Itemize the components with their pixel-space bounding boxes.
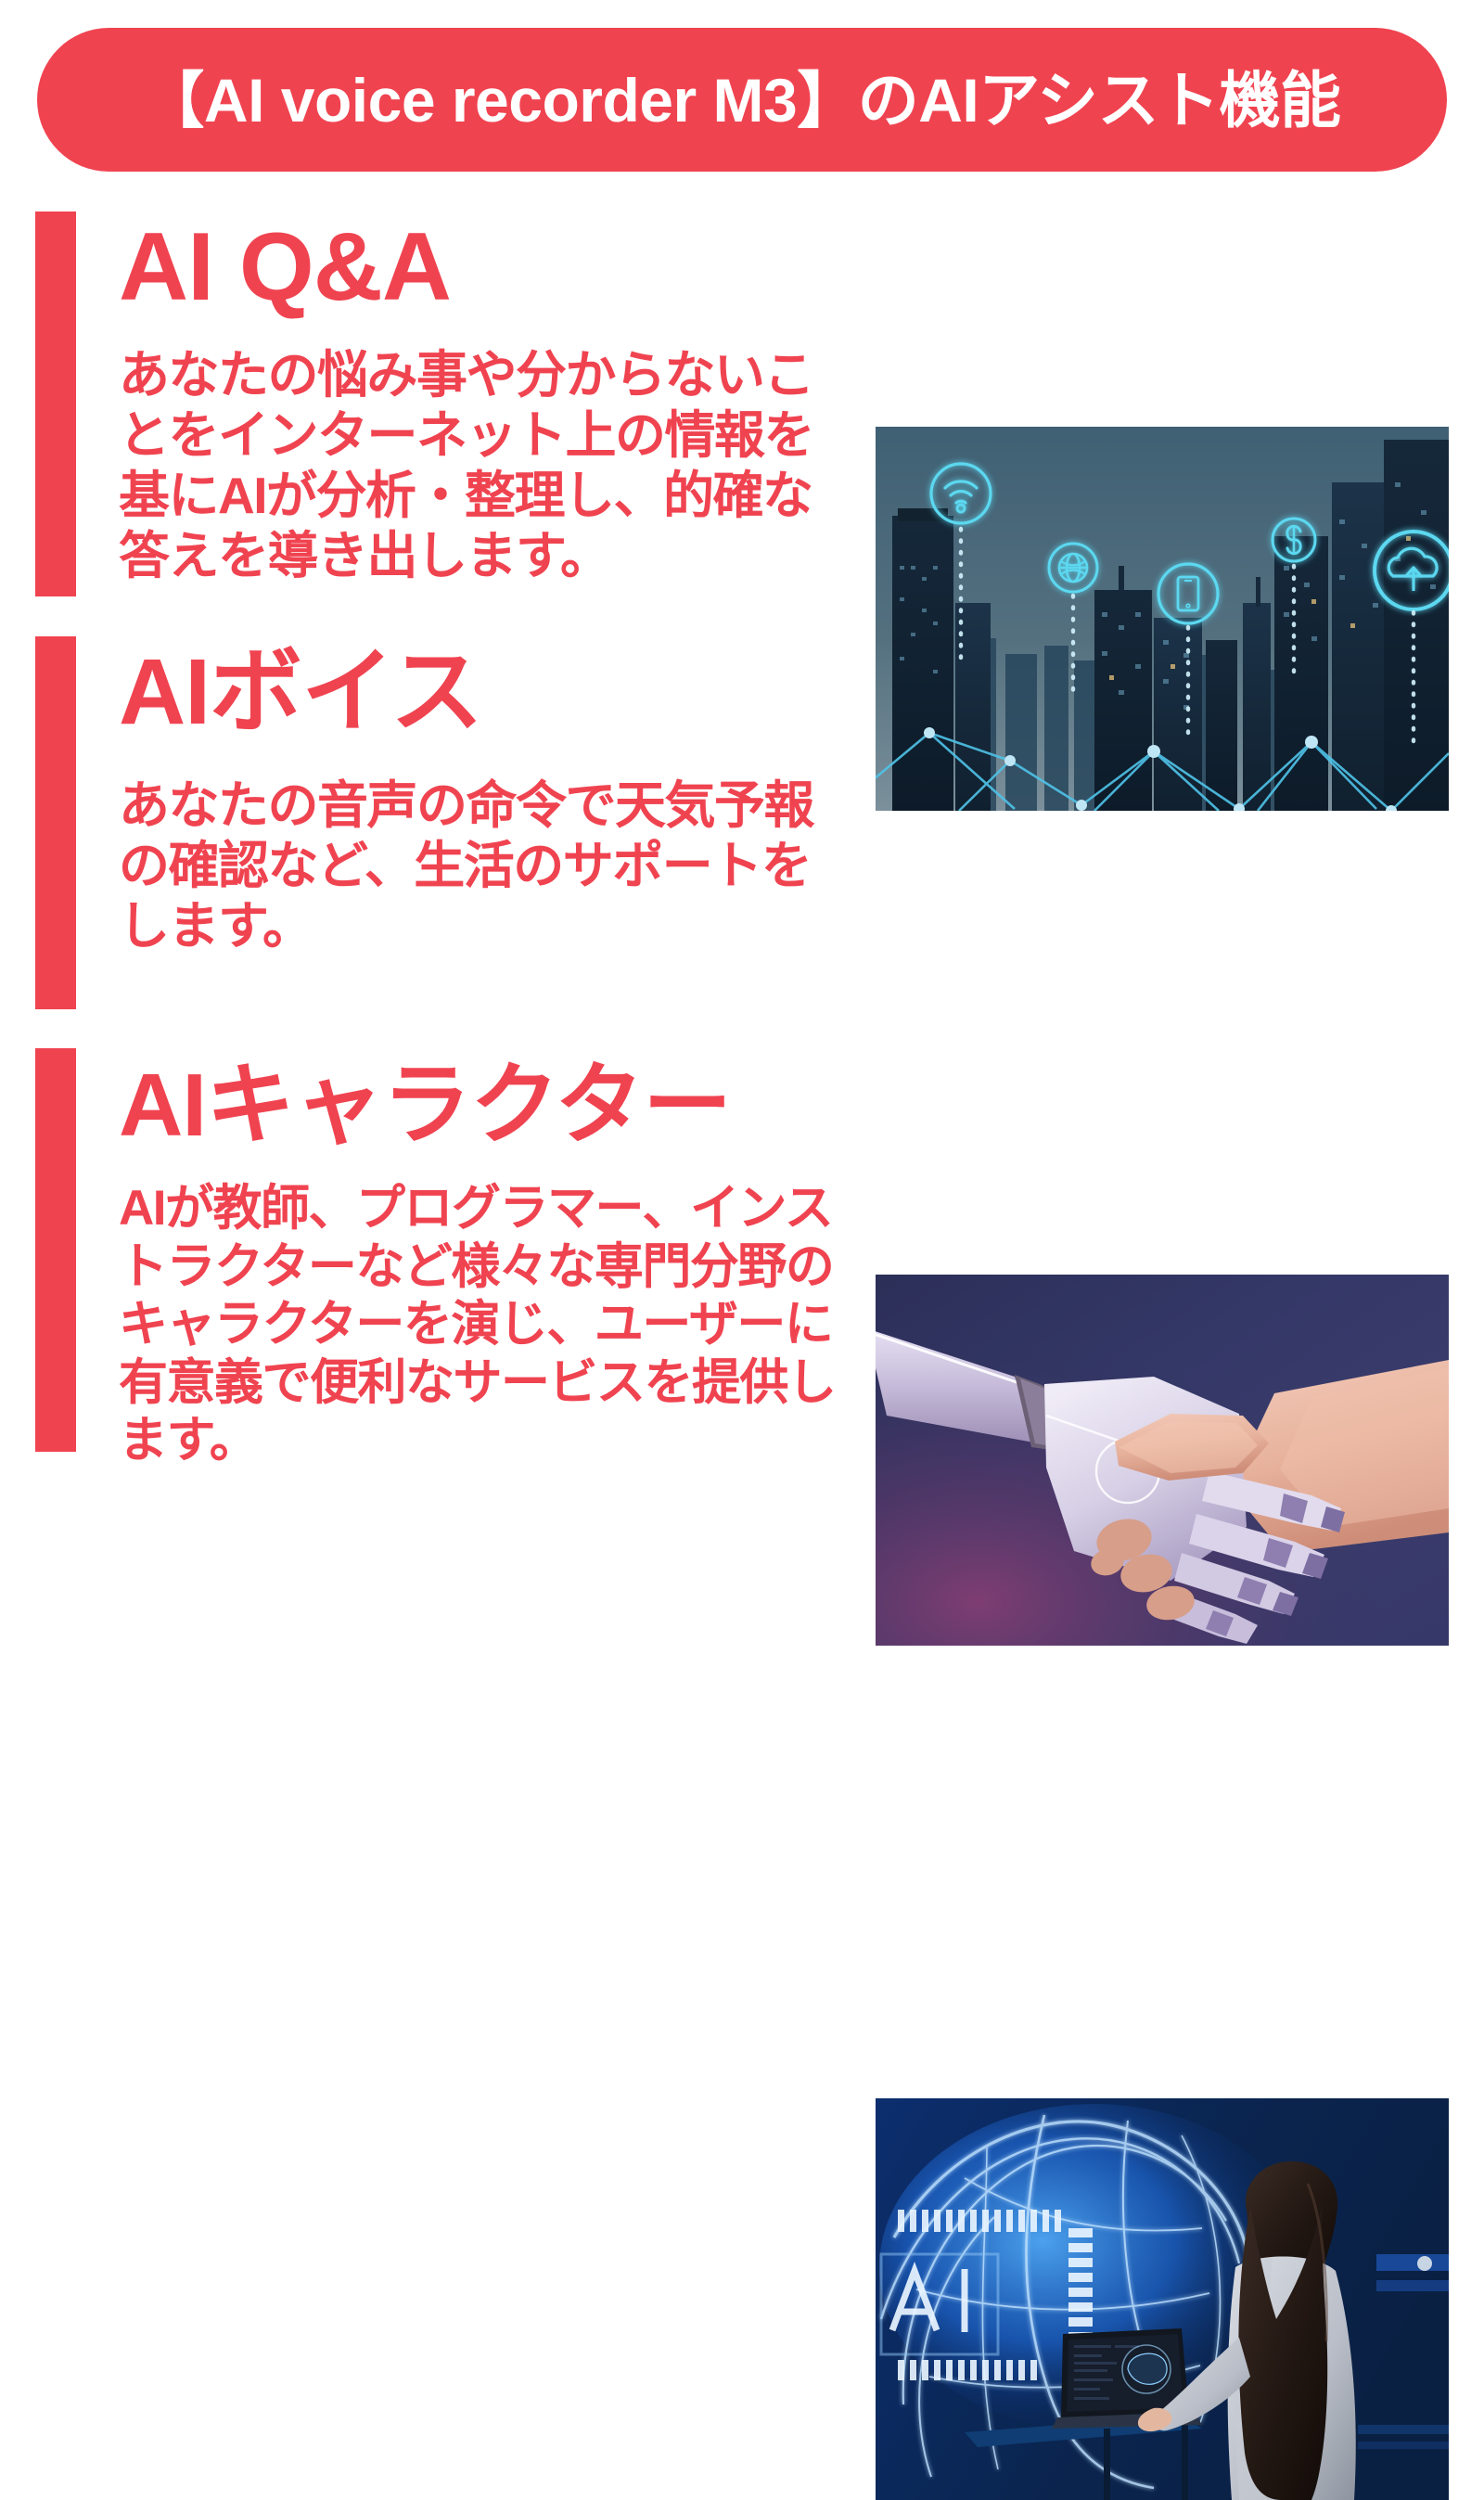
header-banner: 【AI voice recorder M3】のAIアシスト機能 bbox=[37, 28, 1447, 172]
feature-image-woman-laptop-ai-brain-display bbox=[876, 2098, 1449, 2500]
feature-title: AIボイス bbox=[119, 636, 851, 738]
banner-title: 【AI voice recorder M3】のAIアシスト機能 bbox=[143, 70, 1340, 131]
feature-text-column: AI Q&A あなたの悩み事や分からないことをインターネット上の情報を基にAIが… bbox=[119, 212, 851, 586]
feature-title: AI Q&A bbox=[119, 212, 851, 315]
feature-text-column: AIボイス あなたの音声の命令で天気予報の確認など、生活のサポートをします。 bbox=[119, 636, 851, 956]
feature-body: AIが教師、プログラマー、インストラクターなど様々な専門分野のキャラクターを演じ… bbox=[119, 1180, 851, 1470]
feature-body: あなたの悩み事や分からないことをインターネット上の情報を基にAIが分析・整理し、… bbox=[119, 345, 851, 586]
feature-title: AIキャラクター bbox=[119, 1048, 851, 1150]
ai-brain-display-illustration bbox=[876, 2098, 1449, 2500]
feature-body: あなたの音声の命令で天気予報の確認など、生活のサポートをします。 bbox=[119, 776, 851, 956]
accent-bar bbox=[35, 212, 76, 596]
accent-bar bbox=[35, 1048, 76, 1452]
feature-text-column: AIキャラクター AIが教師、プログラマー、インストラクターなど様々な専門分野の… bbox=[119, 1048, 851, 1470]
accent-bar bbox=[35, 636, 76, 1009]
feature-section-ai-character: AIキャラクター AIが教師、プログラマー、インストラクターなど様々な専門分野の… bbox=[0, 1048, 1484, 1456]
feature-section-ai-voice: AIボイス あなたの音声の命令で天気予報の確認など、生活のサポートをします。 bbox=[0, 636, 1484, 1015]
feature-section-ai-qa: AI Q&A あなたの悩み事や分からないことをインターネット上の情報を基にAIが… bbox=[0, 212, 1484, 601]
